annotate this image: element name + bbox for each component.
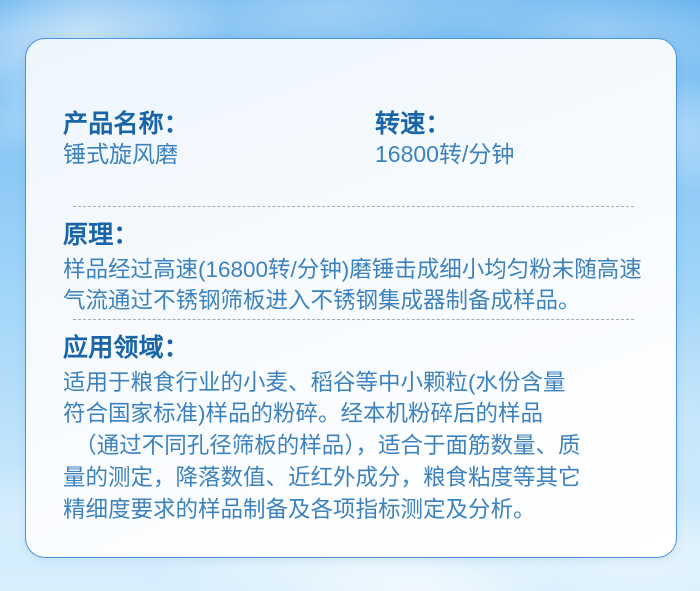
principle-line: 气流通过不锈钢筛板进入不锈钢集成器制备成样品。: [63, 285, 654, 317]
application-line: 符合国家标准)样品的粉碎。经本机粉碎后的样品: [63, 398, 654, 430]
spec-row-top: 产品名称： 锤式旋风磨 转速： 16800转/分钟: [63, 109, 643, 169]
rotation-speed-label: 转速：: [375, 109, 643, 140]
product-name-value: 锤式旋风磨: [63, 140, 375, 170]
field-rotation-speed: 转速： 16800转/分钟: [375, 109, 643, 169]
rotation-speed-value: 16800转/分钟: [375, 140, 643, 170]
application-line: （通过不同孔径筛板的样品），适合于面筋数量、质: [63, 430, 654, 462]
cloud-wisp-icon: [290, 556, 550, 591]
product-name-label: 产品名称：: [63, 109, 375, 140]
application-line: 精细度要求的样品制备及各项指标测定及分析。: [63, 494, 654, 526]
product-spec-page: 产品名称： 锤式旋风磨 转速： 16800转/分钟 原理： 样品经过高速(168…: [0, 0, 700, 591]
field-product-name: 产品名称： 锤式旋风磨: [63, 109, 375, 169]
spec-card: 产品名称： 锤式旋风磨 转速： 16800转/分钟 原理： 样品经过高速(168…: [25, 38, 677, 558]
principle-label: 原理：: [63, 220, 654, 251]
principle-line: 样品经过高速(16800转/分钟)磨锤击成细小均匀粉末随高速: [63, 254, 654, 286]
application-line: 适用于粮食行业的小麦、稻谷等中小颗粒(水份含量: [63, 367, 654, 399]
dashed-divider: [73, 319, 634, 320]
application-line: 量的测定，降落数值、近红外成分，粮食粘度等其它: [63, 462, 654, 494]
dashed-divider: [73, 206, 634, 207]
application-text: 适用于粮食行业的小麦、稻谷等中小颗粒(水份含量 符合国家标准)样品的粉碎。经本机…: [63, 367, 654, 527]
section-application: 应用领域： 适用于粮食行业的小麦、稻谷等中小颗粒(水份含量 符合国家标准)样品的…: [63, 333, 654, 526]
section-principle: 原理： 样品经过高速(16800转/分钟)磨锤击成细小均匀粉末随高速 气流通过不…: [63, 220, 654, 317]
principle-text: 样品经过高速(16800转/分钟)磨锤击成细小均匀粉末随高速 气流通过不锈钢筛板…: [63, 254, 654, 318]
application-label: 应用领域：: [63, 333, 654, 364]
